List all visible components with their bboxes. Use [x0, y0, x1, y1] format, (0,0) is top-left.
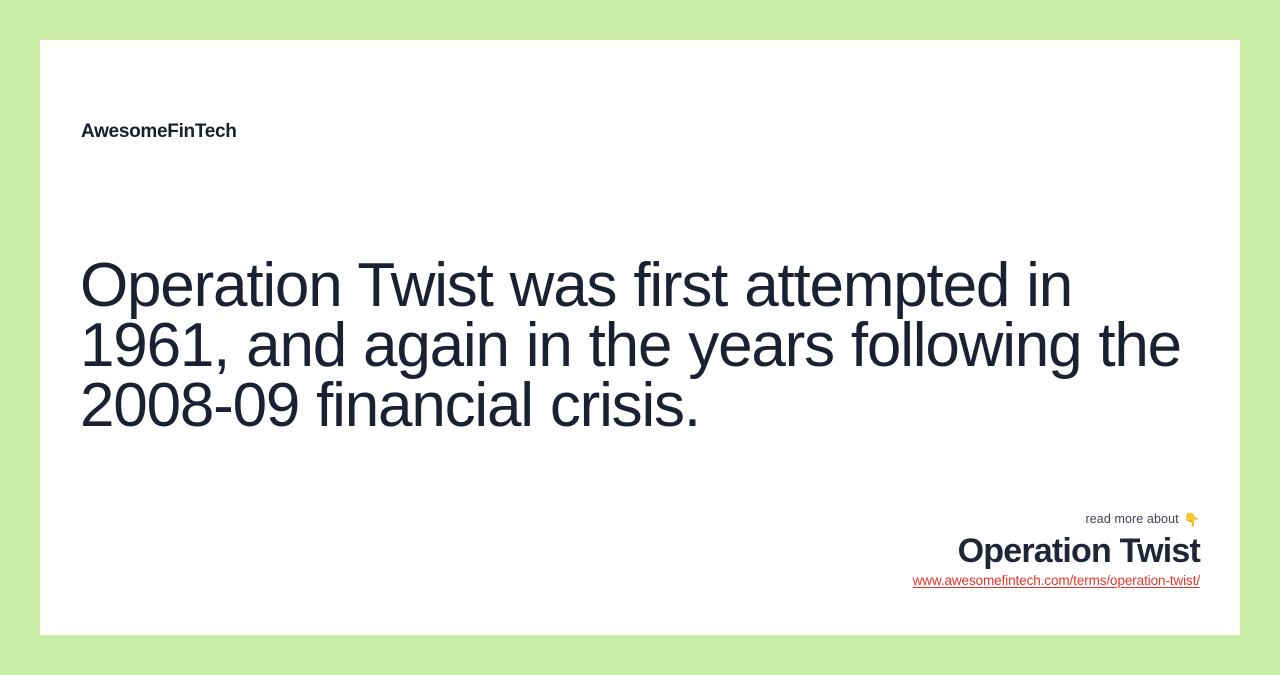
- term-url-link[interactable]: www.awesomefintech.com/terms/operation-t…: [913, 572, 1200, 590]
- footer-block: read more about👇 Operation Twist www.awe…: [680, 510, 1200, 590]
- term-title: Operation Twist: [680, 531, 1200, 571]
- read-more-row: read more about👇: [680, 510, 1200, 529]
- quote-card: AwesomeFinTech Operation Twist was first…: [40, 40, 1240, 635]
- read-more-label: read more about: [1085, 512, 1178, 526]
- brand-logo: AwesomeFinTech: [81, 122, 237, 141]
- pointing-down-icon: 👇: [1184, 511, 1200, 529]
- quote-text: Operation Twist was first attempted in 1…: [80, 256, 1205, 436]
